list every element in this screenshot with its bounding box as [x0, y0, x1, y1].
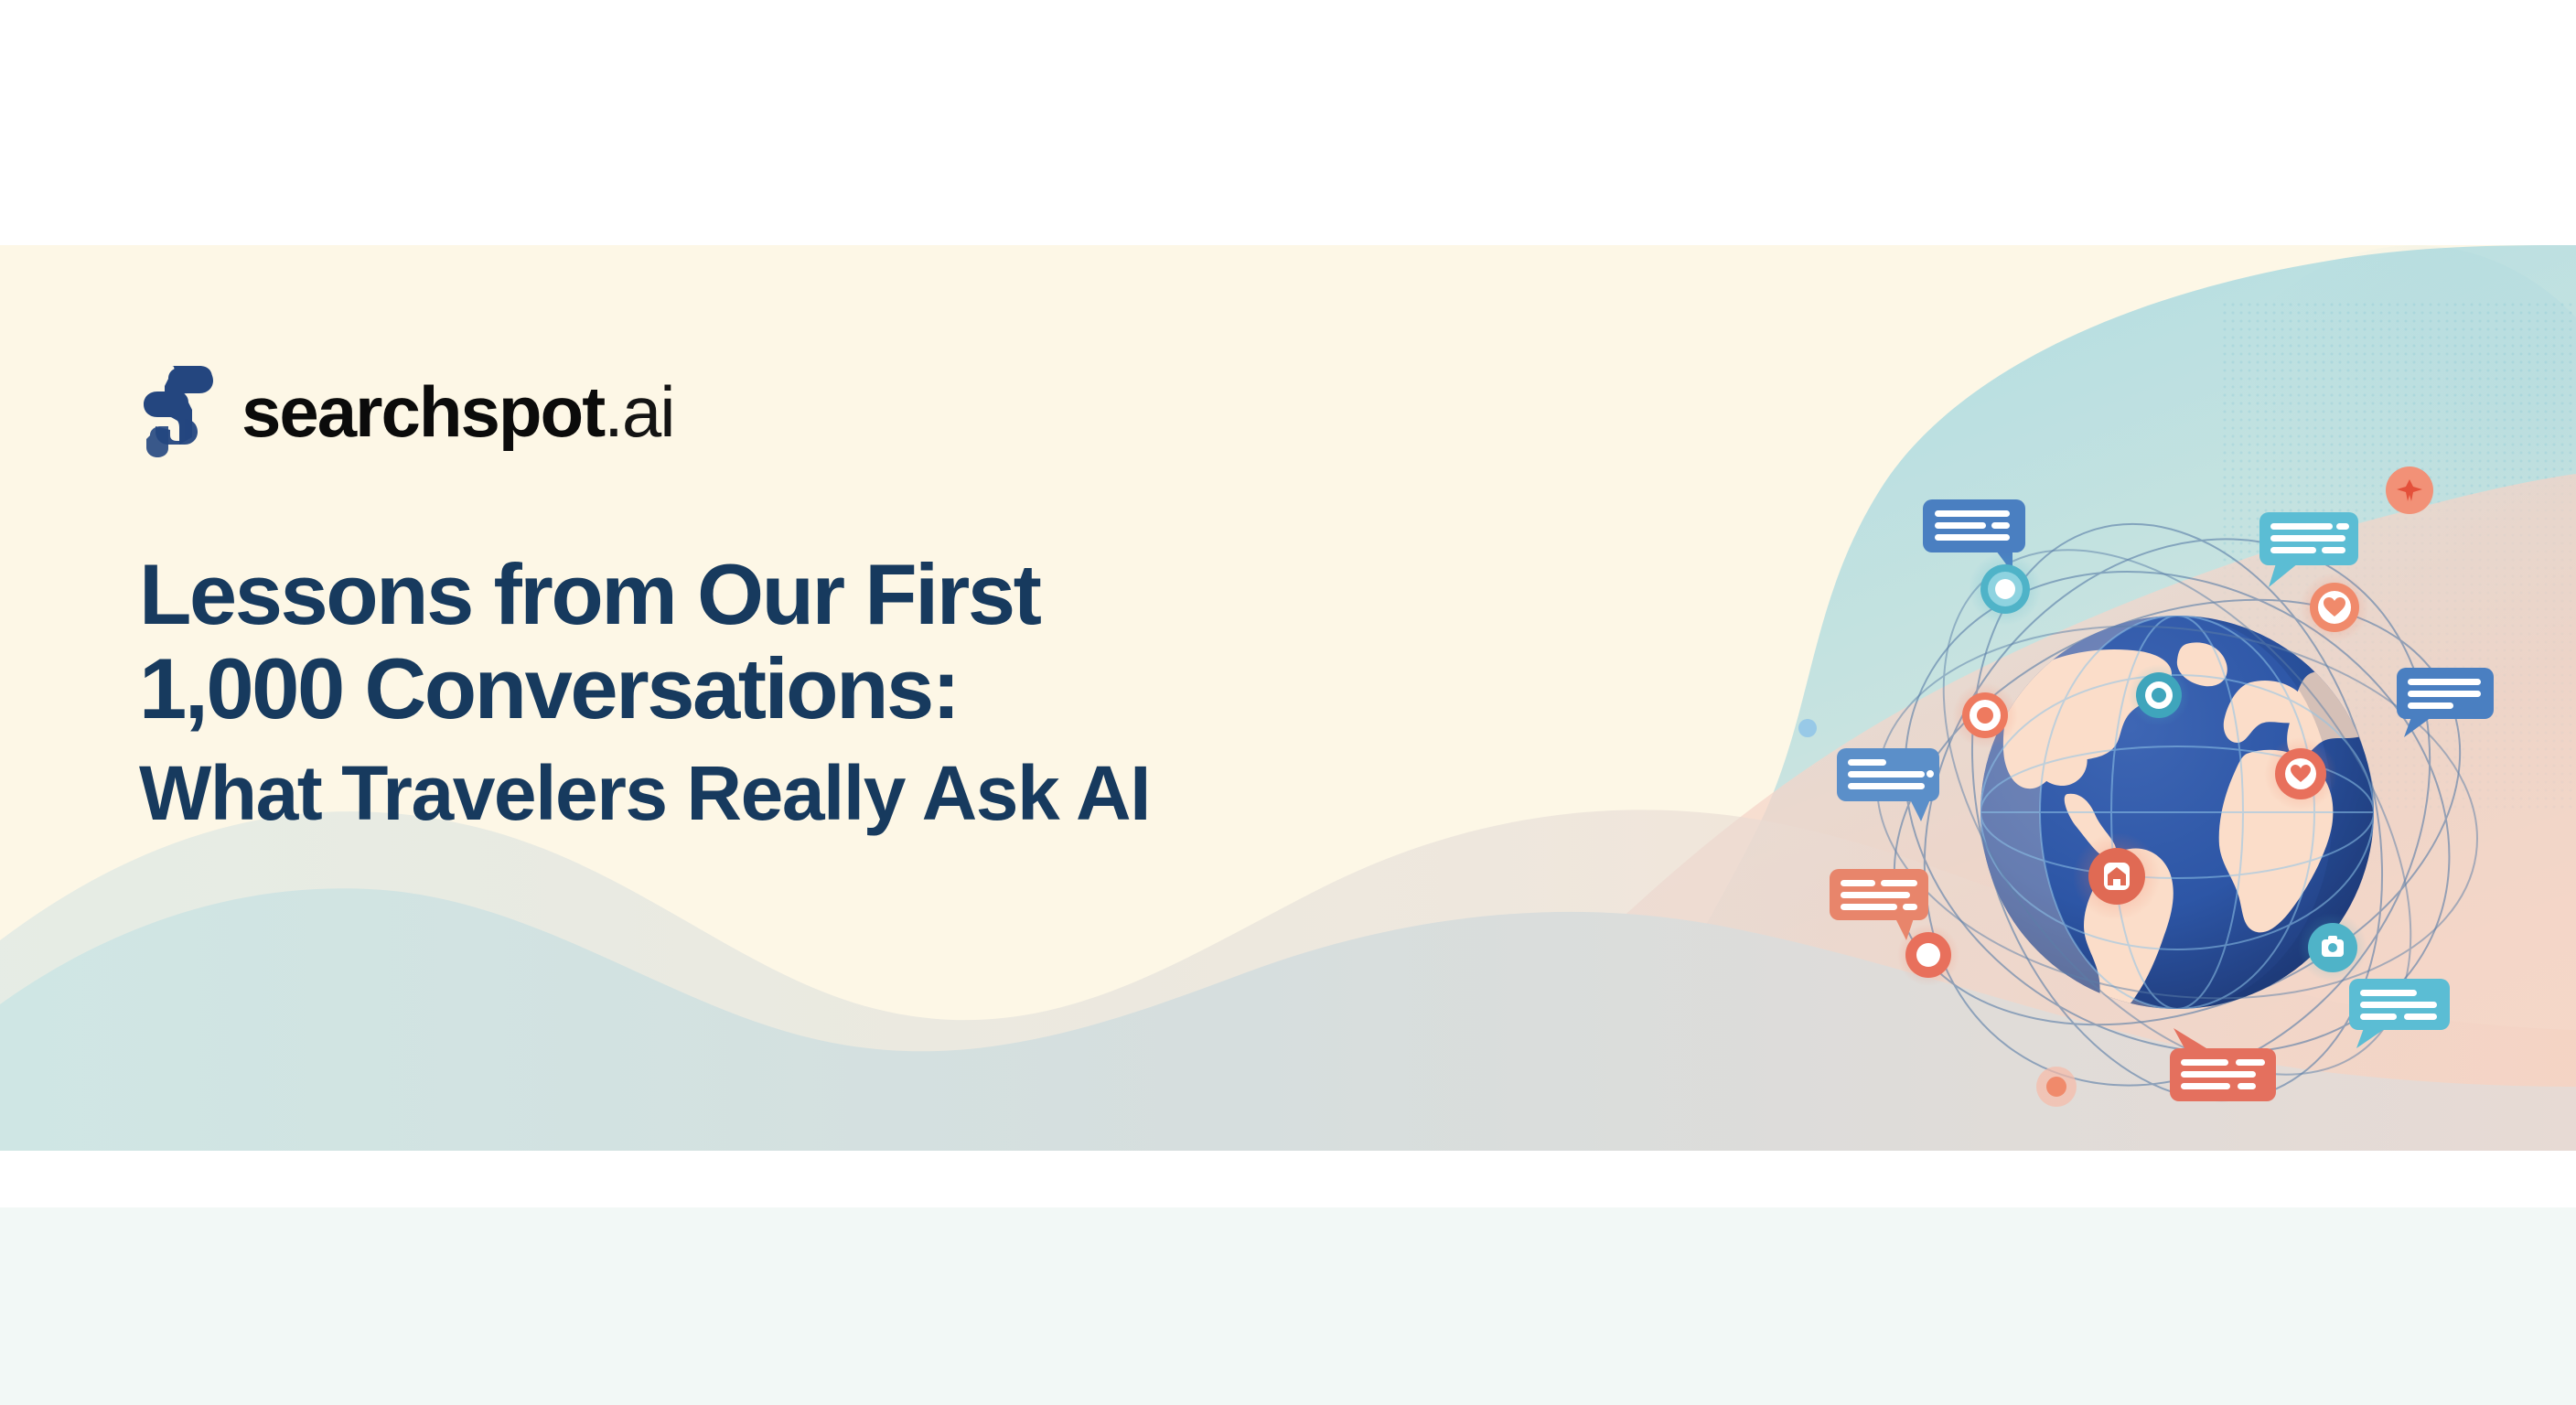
- globe-illustration: [1793, 456, 2561, 1151]
- chat-bubble-bottom-right: [2349, 979, 2450, 1048]
- chat-bubble-right-middle: [2397, 668, 2494, 737]
- brand-logo[interactable]: searchspot.ai: [137, 364, 674, 459]
- chat-bubble-bottom: [2170, 1028, 2276, 1101]
- page-body-section: [0, 1207, 2576, 1405]
- marker-location-pin-icon-teal: [1969, 552, 2042, 626]
- headline-line-3: What Travelers Really Ask AI: [139, 751, 1150, 835]
- headline-line-1: Lessons from Our First: [139, 547, 1150, 641]
- marker-target-icon-coral: [1952, 682, 2018, 748]
- brand-wordmark: searchspot.ai: [241, 376, 674, 447]
- chat-bubble-left-middle: [1837, 748, 1939, 821]
- marker-location-pin-icon-center: [2128, 664, 2190, 726]
- page-root: searchspot.ai Lessons from Our First 1,0…: [0, 0, 2576, 1405]
- below-banner-gap: [0, 1151, 2576, 1207]
- hero-banner: searchspot.ai Lessons from Our First 1,0…: [0, 245, 2576, 1151]
- brand-name-text: searchspot: [241, 376, 604, 447]
- marker-hotel-icon-coral: [2073, 832, 2161, 920]
- headline-line-2: 1,000 Conversations:: [139, 641, 1150, 735]
- searchspot-s-mark-icon: [137, 364, 216, 459]
- marker-plane-icon-coral: [2386, 467, 2433, 514]
- marker-dot-icon-pale: [2036, 1067, 2077, 1107]
- page-top-whitespace: [0, 0, 2576, 245]
- marker-dot-icon-coral: [1897, 924, 1959, 986]
- brand-tld-text: .ai: [604, 376, 673, 447]
- marker-camera-icon-teal: [2298, 913, 2367, 982]
- marker-heart-icon-coral: [2300, 573, 2369, 642]
- marker-dot-icon-small-left: [1798, 719, 1817, 737]
- hero-headline: Lessons from Our First 1,000 Conversatio…: [139, 547, 1150, 835]
- marker-heart-icon-red: [2264, 737, 2337, 810]
- globe-illustration-svg: [1793, 456, 2561, 1151]
